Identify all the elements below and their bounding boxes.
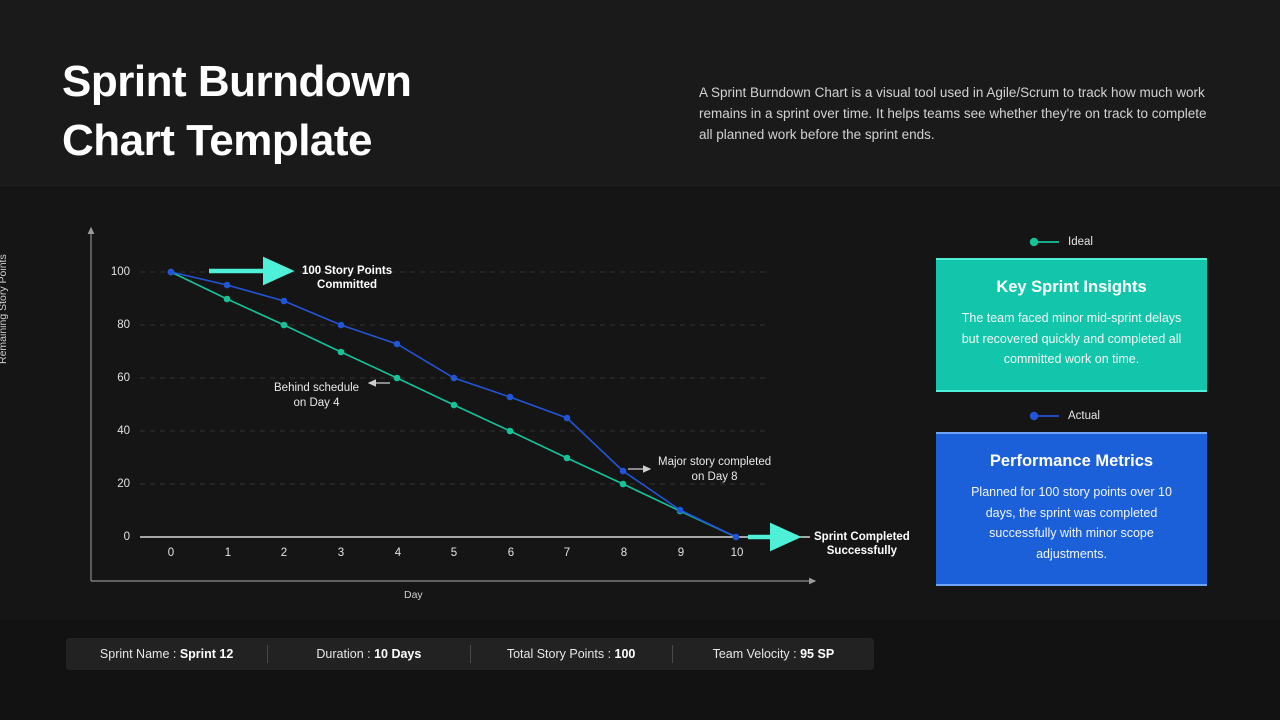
slide-root: Sprint Burndown Chart Template A Sprint … xyxy=(0,0,1280,720)
legend-actual: Actual xyxy=(1029,410,1100,422)
chart-plot-svg xyxy=(0,186,915,620)
card-body: Planned for 100 story points over 10 day… xyxy=(956,482,1187,564)
legend-ideal: Ideal xyxy=(1029,236,1093,248)
legend-ideal-label: Ideal xyxy=(1068,236,1093,248)
annotation-behind-schedule: Behind schedule on Day 4 xyxy=(274,381,359,410)
footer-total-points-label: Total Story Points : xyxy=(507,647,615,661)
page-title-line2: Chart Template xyxy=(62,111,411,170)
footer-duration: Duration : 10 Days xyxy=(268,647,469,661)
header-band: Sprint Burndown Chart Template A Sprint … xyxy=(0,0,1280,186)
sprint-summary-bar: Sprint Name : Sprint 12 Duration : 10 Da… xyxy=(66,638,874,670)
footer-duration-label: Duration : xyxy=(316,647,374,661)
card-key-sprint-insights: Key Sprint Insights The team faced minor… xyxy=(936,258,1207,392)
legend-actual-marker xyxy=(1029,410,1059,422)
card-title: Performance Metrics xyxy=(956,452,1187,471)
footer-band: Sprint Name : Sprint 12 Duration : 10 Da… xyxy=(0,620,1280,720)
annotation-committed: 100 Story Points Committed xyxy=(302,264,392,292)
footer-team-velocity-label: Team Velocity : xyxy=(713,647,801,661)
legend-ideal-marker xyxy=(1029,236,1059,248)
annotation-major-story: Major story completed on Day 8 xyxy=(658,455,771,484)
footer-team-velocity: Team Velocity : 95 SP xyxy=(673,647,874,661)
card-performance-metrics: Performance Metrics Planned for 100 stor… xyxy=(936,432,1207,586)
footer-total-points-value: 100 xyxy=(615,647,636,661)
page-title: Sprint Burndown Chart Template xyxy=(62,52,411,170)
header-description: A Sprint Burndown Chart is a visual tool… xyxy=(699,82,1219,145)
footer-duration-value: 10 Days xyxy=(374,647,421,661)
burndown-chart: Remaining Story Points Day 100 80 60 40 … xyxy=(0,186,915,620)
footer-sprint-name-label: Sprint Name : xyxy=(100,647,180,661)
footer-total-points: Total Story Points : 100 xyxy=(471,647,672,661)
footer-sprint-name-value: Sprint 12 xyxy=(180,647,234,661)
footer-team-velocity-value: 95 SP xyxy=(800,647,834,661)
footer-sprint-name: Sprint Name : Sprint 12 xyxy=(66,647,267,661)
annotation-sprint-completed: Sprint Completed Successfully xyxy=(814,530,910,558)
page-title-line1: Sprint Burndown xyxy=(62,57,411,106)
legend-actual-label: Actual xyxy=(1068,410,1100,422)
card-title: Key Sprint Insights xyxy=(956,278,1187,297)
card-body: The team faced minor mid-sprint delays b… xyxy=(956,308,1187,370)
